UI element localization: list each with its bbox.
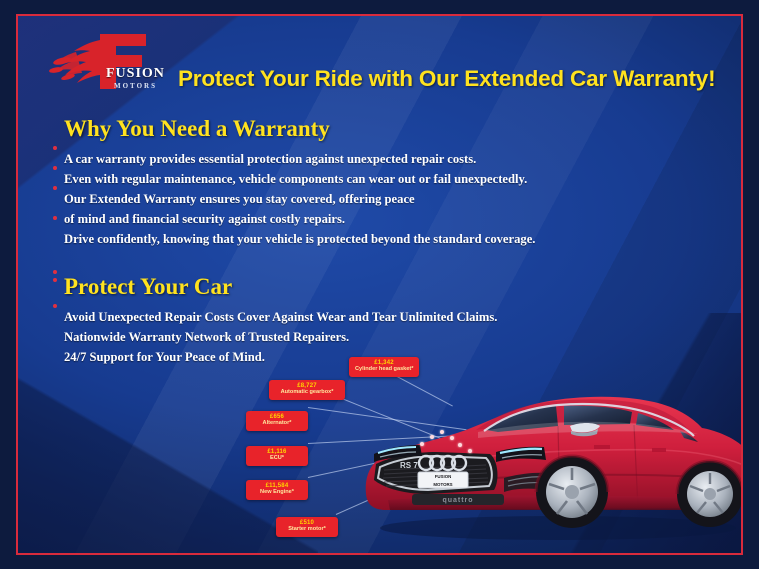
list-item-label: Our Extended Warranty ensures you stay c… [64, 192, 415, 206]
callout-part: New Engine* [252, 490, 302, 496]
list-item-label: Avoid Unexpected Repair Costs Cover Agai… [64, 310, 497, 324]
svg-text:MOTORS: MOTORS [433, 482, 452, 487]
callout-alternator[interactable]: £656 Alternator* [246, 411, 308, 431]
svg-text:quattro: quattro [442, 497, 473, 504]
callout-hotspot [430, 435, 434, 439]
warranty-poster: FUSION MOTORS Protect Your Ride with Our… [0, 0, 759, 569]
bullet-dot-icon [53, 278, 57, 282]
callout-cylinder-head-gasket[interactable]: £1,342 Cylinder head gasket* [349, 357, 419, 377]
callout-hotspot [420, 442, 424, 446]
callout-part: ECU* [252, 456, 302, 462]
logo-wordmark: FUSION [106, 66, 165, 82]
callout-hotspot [458, 443, 462, 447]
callout-automatic-gearbox[interactable]: £8,727 Automatic gearbox* [269, 380, 345, 400]
list-item: Drive confidently, knowing that your veh… [48, 229, 721, 249]
callout-starter-motor[interactable]: £510 Starter motor* [276, 517, 338, 537]
list-item: Avoid Unexpected Repair Costs Cover Agai… [48, 307, 721, 327]
bullet-dot-icon [53, 270, 57, 274]
callout-part: Starter motor* [282, 527, 332, 533]
section-why-you-need-a-warranty: Why You Need a Warranty A car warranty p… [48, 116, 721, 249]
list-item-label: Drive confidently, knowing that your veh… [64, 232, 535, 246]
poster-red-frame: FUSION MOTORS Protect Your Ride with Our… [16, 14, 743, 555]
list-item: Nationwide Warranty Network of Trusted R… [48, 327, 721, 347]
list-item-label: A car warranty provides essential protec… [64, 152, 476, 166]
callout-ecu[interactable]: £1,116 ECU* [246, 446, 308, 466]
callout-hotspot [440, 430, 444, 434]
bullet-dot-icon [53, 146, 57, 150]
svg-text:FUSION: FUSION [435, 474, 452, 479]
list-item-label: of mind and financial security against c… [64, 212, 345, 226]
bullet-dot-icon [53, 304, 57, 308]
bullet-dot-icon [53, 216, 57, 220]
callout-part: Cylinder head gasket* [355, 367, 413, 373]
list-item: Our Extended Warranty ensures you stay c… [48, 189, 721, 209]
section-heading-wrap: Protect Your Car [48, 274, 721, 300]
callout-part: Alternator* [252, 421, 302, 427]
list-item-label: 24/7 Support for Your Peace of Mind. [64, 350, 265, 364]
flame-f-logo-icon [40, 30, 180, 98]
poster-header: FUSION MOTORS Protect Your Ride with Our… [18, 24, 741, 104]
list-item: of mind and financial security against c… [48, 209, 721, 229]
bullet-dot-icon [53, 186, 57, 190]
page-title: Protect Your Ride with Our Extended Car … [178, 66, 727, 92]
car-image: RS 7 FUSION MOTORS quattro [358, 368, 743, 553]
audi-rs7-illustration: RS 7 FUSION MOTORS quattro [358, 368, 743, 553]
callout-hotspot [468, 449, 472, 453]
bullet-dot-icon [53, 166, 57, 170]
list-item-label: Nationwide Warranty Network of Trusted R… [64, 330, 349, 344]
section-protect-your-car: Protect Your Car Avoid Unexpected Repair… [48, 274, 721, 367]
section-heading: Protect Your Car [64, 274, 232, 299]
list-item: Even with regular maintenance, vehicle c… [48, 169, 721, 189]
section-heading: Why You Need a Warranty [48, 116, 721, 142]
fusion-motors-logo: FUSION MOTORS [40, 30, 180, 98]
logo-tagline: MOTORS [114, 82, 157, 90]
svg-text:RS 7: RS 7 [400, 461, 418, 470]
callout-new-engine[interactable]: £11,584 New Engine* [246, 480, 308, 500]
callout-part: Automatic gearbox* [275, 390, 339, 396]
section-body: A car warranty provides essential protec… [48, 149, 721, 249]
callout-hotspot [450, 436, 454, 440]
list-item-label: Even with regular maintenance, vehicle c… [64, 172, 527, 186]
list-item: A car warranty provides essential protec… [48, 149, 721, 169]
